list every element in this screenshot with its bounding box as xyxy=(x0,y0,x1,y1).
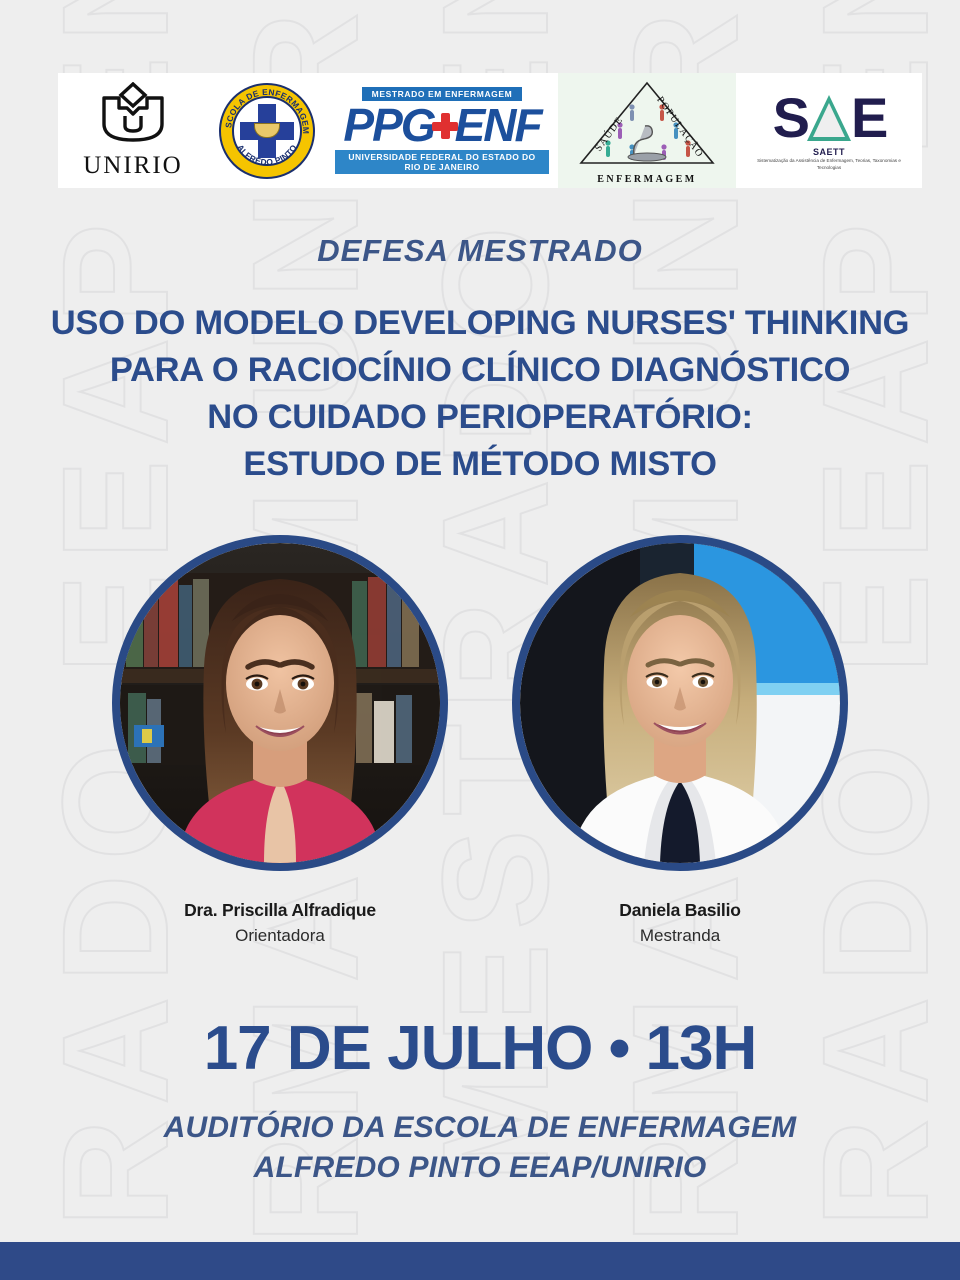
logo-bar: UNIRIO ESCOLA DE ENFERMAGEM ALFREDO PINT… xyxy=(58,73,922,188)
unirio-wordmark: UNIRIO xyxy=(83,152,183,180)
title-line-2: PARA O RACIOCÍNIO CLÍNICO DIAGNÓSTICO xyxy=(40,347,920,394)
photo-row xyxy=(0,535,960,875)
photo-priscilla-alfradique xyxy=(120,543,440,863)
logo-ppgenf: MESTRADO EM ENFERMAGEM PPG ENF UNIVERSID… xyxy=(326,73,558,188)
title-line-3: NO CUIDADO PERIOPERATÓRIO: xyxy=(40,394,920,441)
kicker-defesa-mestrado: DEFESA MESTRADO xyxy=(0,233,960,269)
svg-text:ALFREDO PINTO: ALFREDO PINTO xyxy=(235,142,299,167)
logo-unirio: UNIRIO xyxy=(58,73,208,188)
ppgenf-wordmark-left: PPG xyxy=(343,103,434,147)
saude-triangle-icon: SAÚDE POPULAÇÃO xyxy=(572,77,722,173)
title-line-4: ESTUDO DE MÉTODO MISTO xyxy=(40,441,920,488)
sae-triangle-icon xyxy=(807,93,851,143)
page-title: USO DO MODELO DEVELOPING NURSES' THINKIN… xyxy=(40,300,920,488)
sae-wordmark: SE xyxy=(773,90,886,146)
person-name: Dra. Priscilla Alfradique xyxy=(80,900,480,921)
people-captions: Dra. Priscilla Alfradique Orientadora Da… xyxy=(0,900,960,960)
caption-daniela-basilio: Daniela Basilio Mestranda xyxy=(480,900,880,946)
person-role: Mestranda xyxy=(480,926,880,946)
eeap-seal-icon: ESCOLA DE ENFERMAGEM ALFREDO PINTO xyxy=(219,83,315,179)
sae-fine-print: Sistematização da Assistência de Enferma… xyxy=(754,158,904,170)
poster-canvas: ENFERMAGEM UNIRIO MESTRADO EEAP ENF ENFE… xyxy=(0,0,960,1280)
ppgenf-wordmark: PPG ENF xyxy=(343,103,540,147)
event-date-time: 17 DE JULHO • 13H xyxy=(0,1018,960,1080)
medical-cross-icon xyxy=(432,113,458,139)
avatar-daniela-basilio xyxy=(512,535,848,871)
person-name: Daniela Basilio xyxy=(480,900,880,921)
unirio-mark-icon xyxy=(95,82,171,150)
ppgenf-wordmark-right: ENF xyxy=(455,103,541,147)
person-role: Orientadora xyxy=(80,926,480,946)
logo-saude-populacao-enfermagem: SAÚDE POPULAÇÃO ENFERMAGEM xyxy=(558,73,736,188)
photo-daniela-basilio xyxy=(520,543,840,863)
logo-sae: SE SAETT Sistematização da Assistência d… xyxy=(736,73,922,188)
ppgenf-bottom-band: UNIVERSIDADE FEDERAL DO ESTADO DO RIO DE… xyxy=(335,150,549,174)
venue-line-2: ALFREDO PINTO EEAP/UNIRIO xyxy=(0,1148,960,1188)
title-line-1: USO DO MODELO DEVELOPING NURSES' THINKIN… xyxy=(40,300,920,347)
saude-baseline-label: ENFERMAGEM xyxy=(597,174,696,185)
caption-priscilla-alfradique: Dra. Priscilla Alfradique Orientadora xyxy=(80,900,480,946)
sae-acronym: SAETT xyxy=(813,147,845,157)
event-venue: AUDITÓRIO DA ESCOLA DE ENFERMAGEM ALFRED… xyxy=(0,1108,960,1187)
venue-line-1: AUDITÓRIO DA ESCOLA DE ENFERMAGEM xyxy=(0,1108,960,1148)
footer-bar xyxy=(0,1242,960,1280)
svg-text:POPULAÇÃO: POPULAÇÃO xyxy=(654,94,705,159)
logo-escola-de-enfermagem: ESCOLA DE ENFERMAGEM ALFREDO PINTO xyxy=(208,73,326,188)
avatar-priscilla-alfradique xyxy=(112,535,448,871)
